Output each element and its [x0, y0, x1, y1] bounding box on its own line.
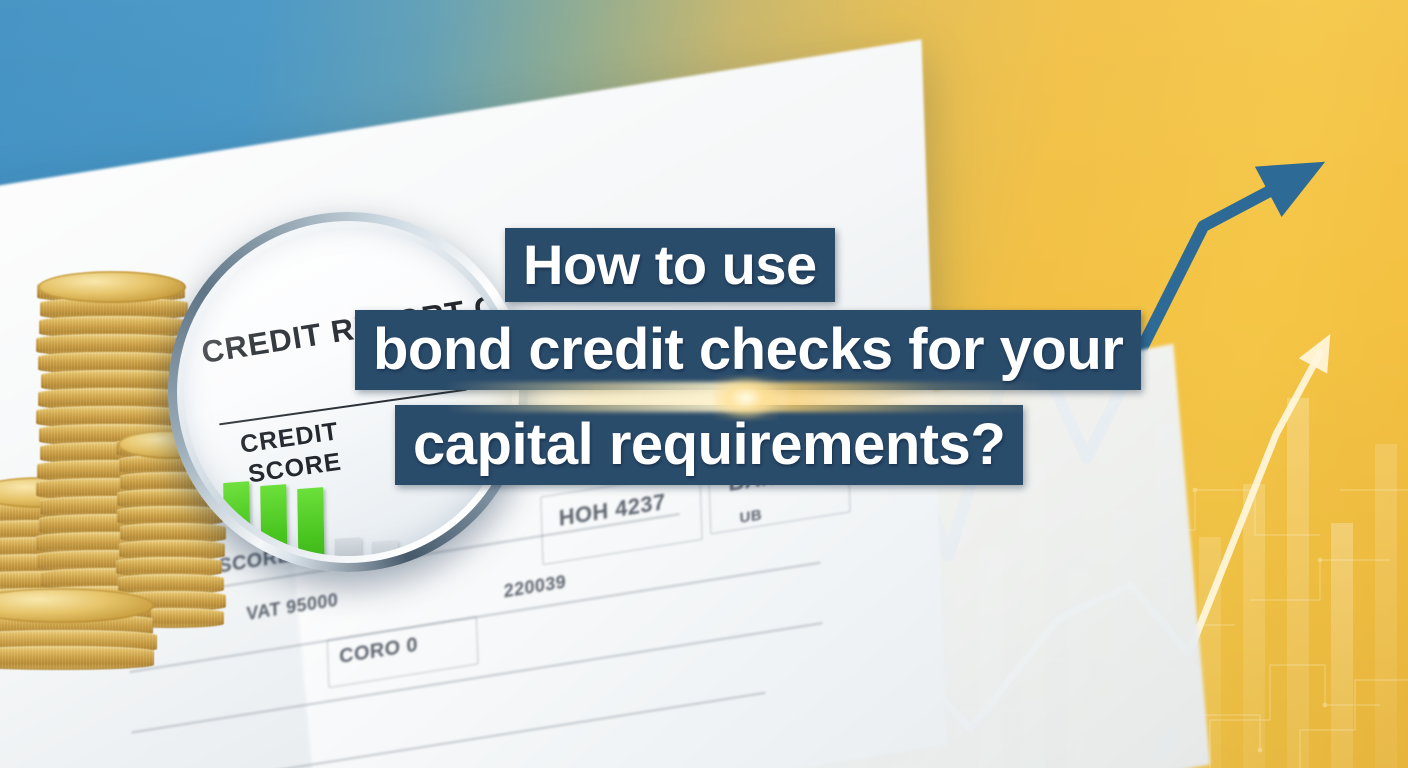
headline-line-1-box: How to use — [505, 228, 835, 302]
headline-line-2: bond credit checks for your — [373, 321, 1123, 379]
headline-line-3-box: capital requirements? — [395, 405, 1023, 485]
headline-line-3: capital requirements? — [413, 416, 1005, 474]
headline-line-1: How to use — [523, 237, 817, 293]
banner-canvas: CREDIT SCORE HOH 4237 BANK UB CORO 0 220… — [0, 0, 1408, 768]
headline-line-2-box: bond credit checks for your — [355, 310, 1141, 390]
headline-block: How to use bond credit checks for your c… — [0, 0, 1408, 768]
